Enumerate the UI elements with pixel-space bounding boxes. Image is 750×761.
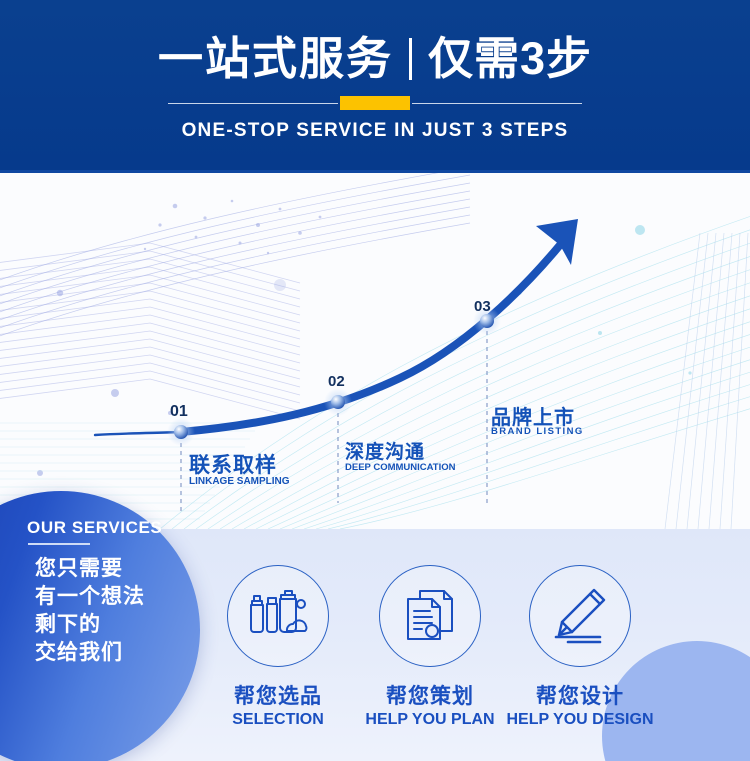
- step-label-en-01: LINKAGE SAMPLING: [189, 476, 290, 487]
- service-label-en: HELP YOU DESIGN: [500, 711, 660, 729]
- service-item-plan[interactable]: 帮您策划 HELP YOU PLAN: [350, 565, 510, 729]
- service-label-en: SELECTION: [198, 711, 358, 729]
- header-title-row: 一站式服务 仅需3步: [0, 36, 750, 81]
- header-banner: 一站式服务 仅需3步 ONE-STOP SERVICE IN JUST 3 ST…: [0, 0, 750, 170]
- our-services-label: OUR SERVICES: [27, 518, 162, 538]
- header-english-title: ONE-STOP SERVICE IN JUST 3 STEPS: [0, 120, 750, 142]
- our-services-line: 剩下的: [35, 611, 185, 639]
- step-label-cn-01: 联系取样: [189, 449, 277, 479]
- our-services-line: 交给我们: [35, 639, 185, 667]
- service-item-selection[interactable]: 帮您选品 SELECTION: [198, 565, 358, 729]
- arrow-head-icon: [536, 219, 578, 265]
- step-number-03: 03: [474, 298, 491, 315]
- title-rule: [0, 96, 750, 110]
- our-services-line: 有一个想法: [35, 583, 185, 611]
- step-number-02: 02: [328, 373, 345, 390]
- step-label-cn-02: 深度沟通: [345, 437, 425, 464]
- page-subtitle: 仅需3步: [428, 36, 592, 81]
- step-label-en-03: BRAND LISTING: [491, 426, 584, 437]
- documents-icon: [400, 587, 460, 645]
- page-title: 一站式服务: [158, 36, 393, 81]
- pencil-icon: [550, 587, 610, 645]
- service-item-design[interactable]: 帮您设计 HELP YOU DESIGN: [500, 565, 660, 729]
- our-services-underline: [28, 543, 90, 545]
- cosmetic-bottles-icon: [247, 587, 309, 645]
- service-label-en: HELP YOU PLAN: [350, 711, 510, 729]
- growth-chart-section: 01 联系取样 LINKAGE SAMPLING 02 深度沟通 DEEP CO…: [0, 173, 750, 529]
- promo-banner: 一站式服务 仅需3步 ONE-STOP SERVICE IN JUST 3 ST…: [0, 0, 750, 761]
- title-divider: [409, 38, 412, 80]
- our-services-line: 您只需要: [35, 555, 185, 583]
- service-label-cn: 帮您选品: [198, 680, 358, 710]
- service-icon-frame: [379, 565, 481, 667]
- our-services-text: 您只需要 有一个想法 剩下的 交给我们: [35, 555, 185, 667]
- service-label-cn: 帮您设计: [500, 680, 660, 710]
- rule-line-right: [412, 103, 582, 104]
- service-icon-frame: [529, 565, 631, 667]
- service-icon-frame: [227, 565, 329, 667]
- growth-arrow-chart: [0, 173, 750, 529]
- step-label-en-02: DEEP COMMUNICATION: [345, 462, 455, 473]
- service-label-cn: 帮您策划: [350, 680, 510, 710]
- accent-chip: [340, 96, 410, 110]
- rule-line-left: [168, 103, 338, 104]
- step-number-01: 01: [170, 403, 188, 421]
